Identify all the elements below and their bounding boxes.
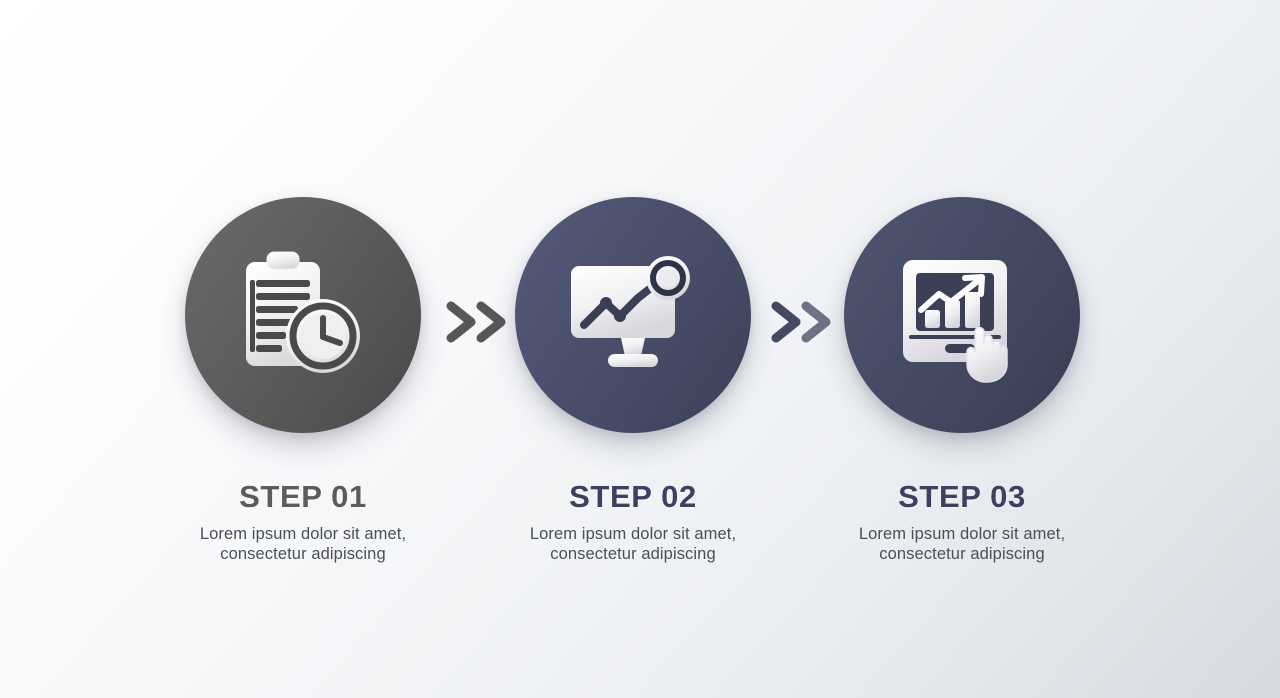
step-03-desc-line-1: Lorem ipsum dolor sit amet,: [859, 525, 1065, 543]
step-02-description: Lorem ipsum dolor sit amet, consectetur …: [483, 524, 783, 565]
step-03-circle-wrap: [844, 197, 1080, 433]
step-02-text: STEP 02 Lorem ipsum dolor sit amet, cons…: [483, 481, 783, 564]
step-item-02[interactable]: STEP 02 Lorem ipsum dolor sit amet, cons…: [483, 197, 783, 564]
step-02-title: STEP 02: [483, 481, 783, 514]
step-03-circle[interactable]: [844, 197, 1080, 433]
step-02-desc-line-2: consectetur adipiscing: [483, 544, 783, 564]
step-01-description: Lorem ipsum dolor sit amet, consectetur …: [153, 524, 453, 565]
step-item-01[interactable]: STEP 01 Lorem ipsum dolor sit amet, cons…: [153, 197, 453, 564]
step-01-desc-line-2: consectetur adipiscing: [153, 544, 453, 564]
step-02-circle[interactable]: [515, 197, 751, 433]
step-02-circle-wrap: [515, 197, 751, 433]
step-item-03[interactable]: STEP 03 Lorem ipsum dolor sit amet, cons…: [812, 197, 1112, 564]
monitor-chart-magnifier-icon: [558, 240, 708, 390]
step-03-description: Lorem ipsum dolor sit amet, consectetur …: [812, 524, 1112, 565]
step-03-text: STEP 03 Lorem ipsum dolor sit amet, cons…: [812, 481, 1112, 564]
step-01-desc-line-1: Lorem ipsum dolor sit amet,: [200, 525, 406, 543]
clipboard-clock-icon: [228, 240, 378, 390]
step-01-text: STEP 01 Lorem ipsum dolor sit amet, cons…: [153, 481, 453, 564]
step-03-desc-line-2: consectetur adipiscing: [812, 544, 1112, 564]
step-03-title: STEP 03: [812, 481, 1112, 514]
infographic-stage: STEP 01 Lorem ipsum dolor sit amet, cons…: [0, 0, 1280, 698]
step-01-circle[interactable]: [185, 197, 421, 433]
step-01-circle-wrap: [185, 197, 421, 433]
step-02-desc-line-1: Lorem ipsum dolor sit amet,: [530, 525, 736, 543]
step-01-title: STEP 01: [153, 481, 453, 514]
dashboard-bar-chart-hand-icon: [887, 240, 1037, 390]
